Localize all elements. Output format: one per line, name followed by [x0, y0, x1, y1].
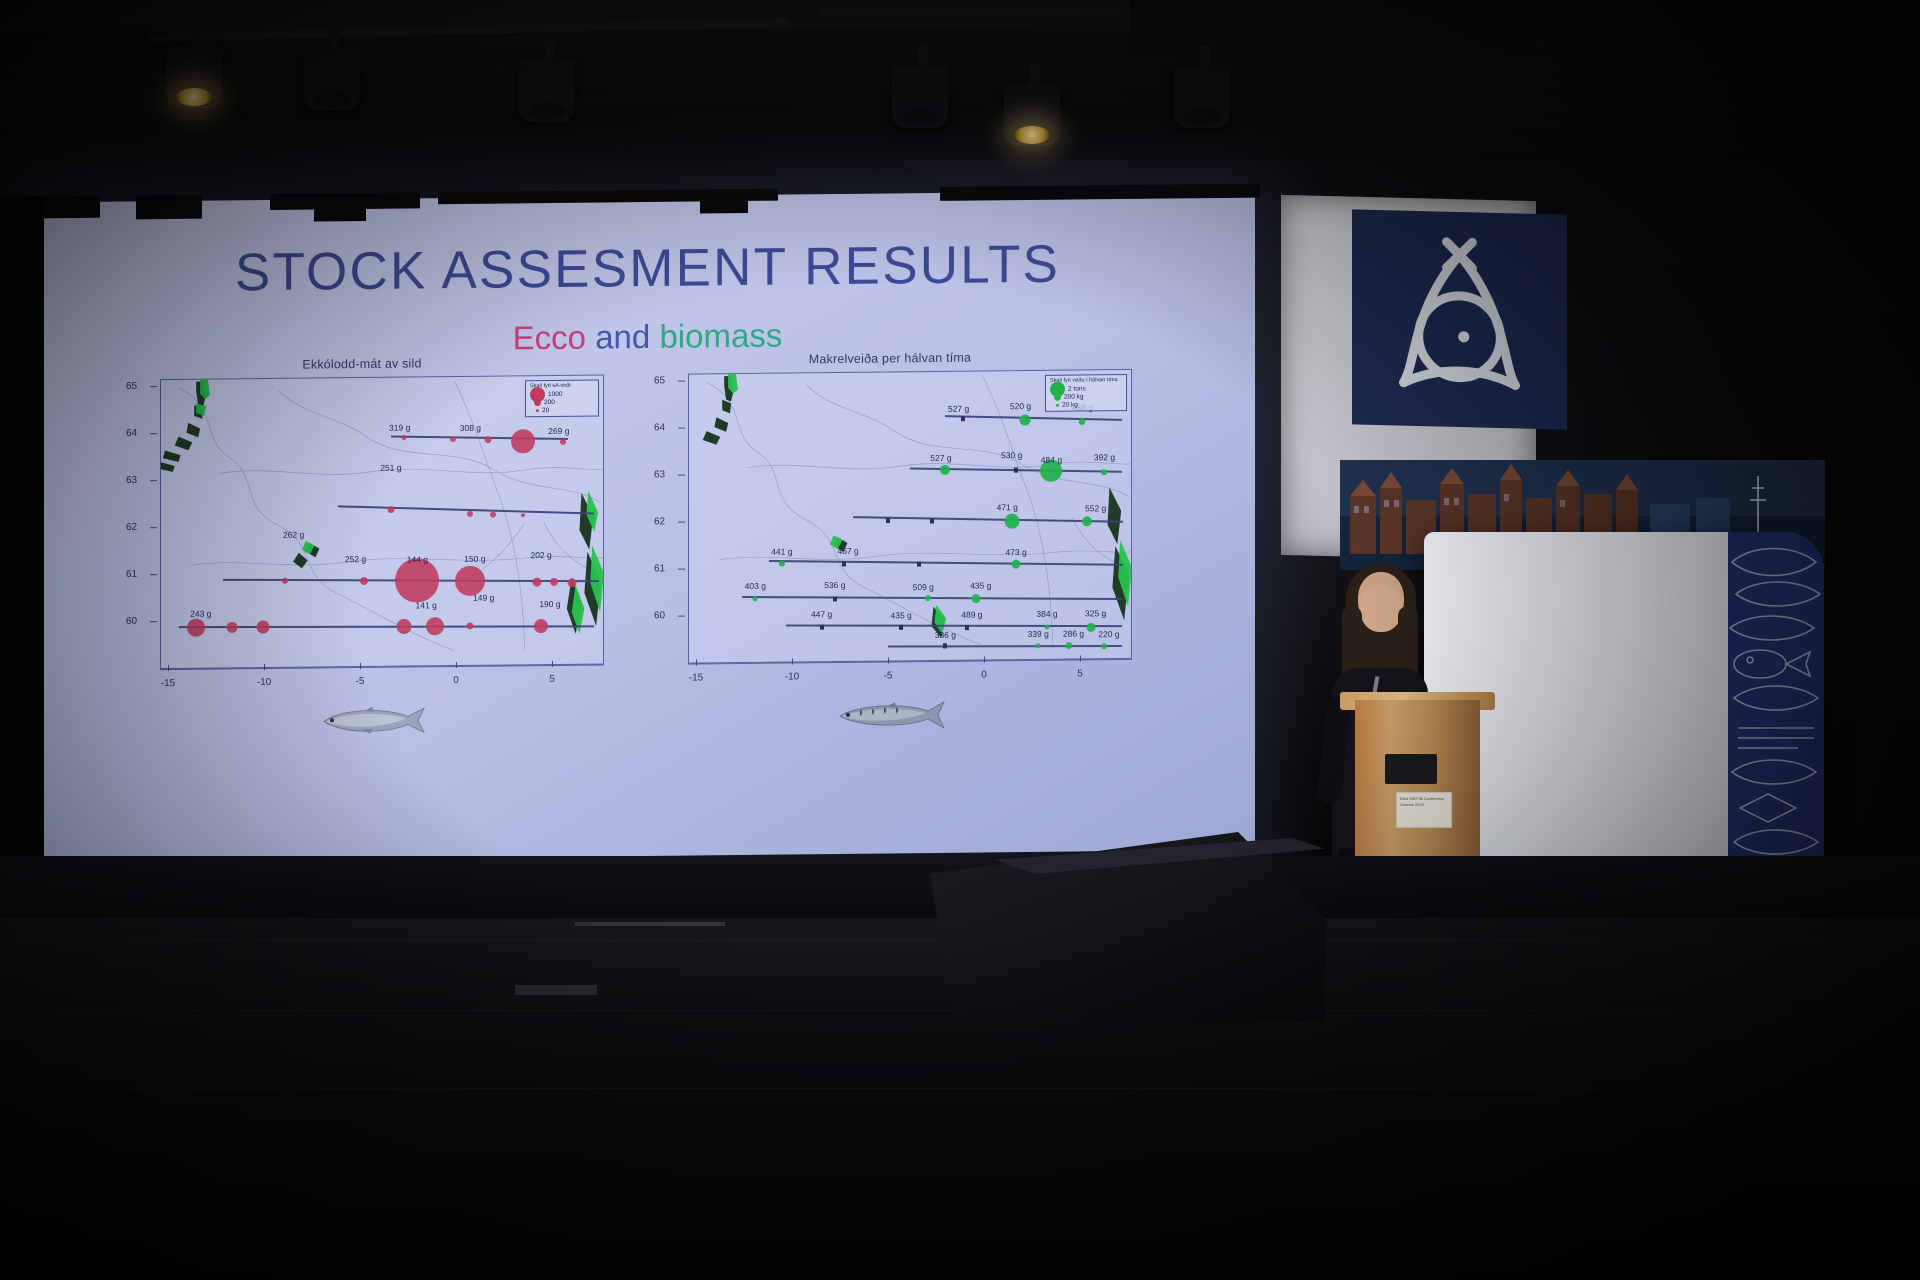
data-point — [1019, 414, 1030, 425]
legend-swatch-small — [536, 409, 539, 412]
data-point — [490, 511, 496, 517]
point-label: 527 g — [948, 403, 969, 413]
truss-silhouette — [40, 196, 100, 219]
legend-entry: 20 kg — [1050, 400, 1122, 409]
x-tick-label: -15 — [161, 678, 175, 689]
transect-line — [888, 645, 1122, 647]
data-point — [1101, 469, 1107, 475]
point-label: 339 g — [1028, 629, 1049, 639]
legend-label: 200 kg — [1064, 393, 1084, 400]
point-label: 190 g — [539, 599, 560, 609]
point-label: 489 g — [961, 609, 982, 619]
mackerel-fish-image — [830, 697, 950, 732]
data-point — [455, 566, 485, 596]
stage-light-off — [892, 66, 948, 128]
face — [1360, 584, 1402, 632]
stage-light-on — [166, 46, 222, 108]
auditorium-stage-scene: STOCK ASSESMENT RESULTS Ecco and biomass… — [0, 0, 1920, 1280]
point-label: 286 g — [1063, 628, 1084, 638]
data-point — [568, 578, 577, 587]
data-point — [402, 435, 407, 440]
data-point — [426, 617, 444, 635]
point-label: 509 g — [913, 582, 934, 592]
data-point — [532, 578, 541, 587]
y-tick-label: 65 — [654, 375, 665, 386]
subtitle-word-ecco: Ecco — [513, 319, 586, 357]
point-label: 435 g — [970, 580, 991, 590]
point-label: 252 g — [345, 554, 366, 564]
legend-swatch-small — [1056, 403, 1059, 406]
x-tick-label: -15 — [689, 672, 703, 683]
subtitle-word-and: and — [595, 318, 650, 356]
data-point — [450, 436, 456, 442]
point-label: 473 g — [1005, 547, 1026, 557]
data-point — [387, 507, 394, 514]
x-tick-label: -5 — [356, 676, 365, 687]
legend-label: 20 — [542, 407, 549, 414]
floor-strip — [575, 922, 725, 926]
point-label: 202 g — [530, 550, 551, 560]
point-label: 251 g — [380, 463, 401, 473]
point-label: 536 g — [824, 580, 845, 590]
point-label: 435 g — [891, 610, 912, 620]
point-label: 384 g — [1036, 608, 1057, 618]
point-label: 308 g — [460, 423, 481, 433]
data-point — [534, 619, 548, 633]
projection-screen: STOCK ASSESMENT RESULTS Ecco and biomass… — [40, 190, 1255, 863]
truss-silhouette — [700, 189, 748, 214]
x-tick-label: -10 — [785, 671, 799, 682]
point-label: 269 g — [548, 426, 569, 436]
data-point — [1004, 513, 1019, 528]
y-tick-label: 61 — [126, 569, 137, 580]
point-label: 144 g — [407, 554, 428, 564]
point-label: 527 g — [930, 453, 951, 463]
point-label: 262 g — [283, 530, 304, 540]
chart-mackerel-catch: Makrelveiða per hálvan tíma — [640, 365, 1140, 700]
chart-legend: Skali fyri vøðu í hálvan tíma 2 tons 200… — [1045, 374, 1127, 412]
data-point — [1012, 560, 1021, 569]
y-tick-label: 61 — [654, 563, 665, 574]
data-point — [511, 429, 535, 453]
floor-plank-line — [0, 1088, 1920, 1089]
herring-fish-image — [312, 702, 432, 737]
y-tick-label: 60 — [126, 616, 137, 627]
point-label: 467 g — [837, 546, 858, 556]
data-point — [940, 465, 950, 475]
data-point — [467, 511, 473, 517]
x-tick-label: -10 — [257, 677, 271, 688]
point-label: 520 g — [1010, 401, 1031, 411]
point-label: 392 g — [1094, 452, 1115, 462]
data-point — [1087, 623, 1096, 632]
podium-card-line2: Gdańsk 2025 — [1400, 802, 1448, 808]
data-point — [1082, 517, 1092, 527]
data-point — [550, 578, 558, 586]
point-label: 441 g — [771, 546, 792, 556]
y-tick-label: 64 — [126, 428, 137, 439]
chart-echosounder-herring: Ekkólodd-mát av sild — [112, 370, 612, 705]
data-point — [925, 595, 931, 601]
data-point — [397, 619, 412, 634]
fish-triquetra-icon — [1352, 209, 1567, 429]
data-point — [521, 513, 525, 517]
y-tick-label: 60 — [654, 610, 665, 621]
y-tick-label: 63 — [654, 469, 665, 480]
point-label: 484 g — [1041, 454, 1062, 464]
data-point — [282, 577, 288, 583]
wefta-flag-emblem — [1352, 209, 1567, 429]
point-label: 403 g — [745, 581, 766, 591]
point-label: 220 g — [1098, 629, 1119, 639]
truss-bar — [1130, 0, 1530, 56]
data-point — [256, 621, 269, 634]
lamp-neck — [330, 28, 340, 50]
x-tick-label: 0 — [453, 675, 459, 686]
data-point — [1066, 642, 1073, 649]
data-point — [779, 561, 785, 567]
x-tick-label: 0 — [981, 669, 987, 680]
y-tick-label: 65 — [126, 381, 137, 392]
lamp-neck — [545, 40, 555, 62]
data-point — [1101, 643, 1107, 649]
left-stage-shadow — [0, 196, 44, 856]
legend-swatch-mid — [1054, 393, 1061, 400]
x-tick-label: -5 — [884, 670, 893, 681]
y-tick-label: 64 — [654, 422, 665, 433]
data-point — [753, 596, 758, 601]
data-point — [360, 577, 368, 585]
stage-light-off — [1174, 66, 1230, 128]
legend-label: 200 — [544, 398, 555, 405]
subtitle-word-biomass: biomass — [659, 317, 782, 355]
data-point — [972, 594, 981, 603]
lamp-neck — [193, 26, 203, 48]
data-point — [1079, 418, 1086, 425]
point-label: 336 g — [935, 630, 956, 640]
point-label: 141 g — [416, 600, 437, 610]
y-tick-label: 63 — [126, 475, 137, 486]
data-point — [485, 436, 492, 443]
data-point — [467, 623, 474, 630]
lamp-neck — [1030, 64, 1040, 86]
point-label: 150 g — [464, 554, 485, 564]
point-label: 149 g — [473, 593, 494, 603]
point-label: 552 g — [1085, 503, 1106, 513]
x-tick-label: 5 — [549, 674, 555, 685]
podium-name-card: 53rd WEFTA Conference Gdańsk 2025 — [1396, 792, 1452, 828]
x-tick-label: 5 — [1077, 668, 1083, 679]
laptop-on-podium — [1385, 754, 1437, 784]
legend-swatch-mid — [534, 399, 541, 406]
lamp-neck — [918, 46, 928, 68]
point-label: 471 g — [997, 502, 1018, 512]
legend-label: 1000 — [548, 390, 562, 397]
data-point — [1036, 643, 1041, 648]
legend-label: 2 tons — [1068, 385, 1086, 392]
point-label: 447 g — [811, 609, 832, 619]
point-label: 243 g — [190, 609, 211, 619]
data-point — [187, 618, 205, 636]
y-tick-label: 62 — [126, 522, 137, 533]
chart-legend: Skali fyri sA-virði 1000 200 20 — [525, 380, 599, 418]
data-point — [560, 439, 566, 445]
transect-line — [179, 625, 594, 627]
point-label: 319 g — [389, 422, 410, 432]
stage-light-off — [304, 48, 360, 110]
y-tick-label: 62 — [654, 516, 665, 527]
stage-light-off — [519, 60, 575, 122]
data-point — [395, 558, 439, 602]
lamp-neck — [1200, 46, 1210, 68]
stage-light-on — [1004, 84, 1060, 146]
plot-area: 527 g 520 g 438 g 527 g 530 g 484 g 392 … — [688, 369, 1132, 664]
truss-silhouette — [136, 195, 202, 220]
truss-silhouette — [314, 193, 366, 222]
slide-title: STOCK ASSESMENT RESULTS — [40, 232, 1255, 306]
data-point — [226, 621, 237, 632]
plot-area: 319 g 308 g 269 g 251 g 262 g — [160, 374, 604, 669]
floor-hatch-plate — [515, 985, 597, 995]
legend-entry: 20 — [530, 406, 594, 415]
point-label: 325 g — [1085, 608, 1106, 618]
truss-bar — [820, 8, 1120, 15]
legend-label: 20 kg — [1062, 401, 1078, 408]
point-label: 530 g — [1001, 450, 1022, 460]
